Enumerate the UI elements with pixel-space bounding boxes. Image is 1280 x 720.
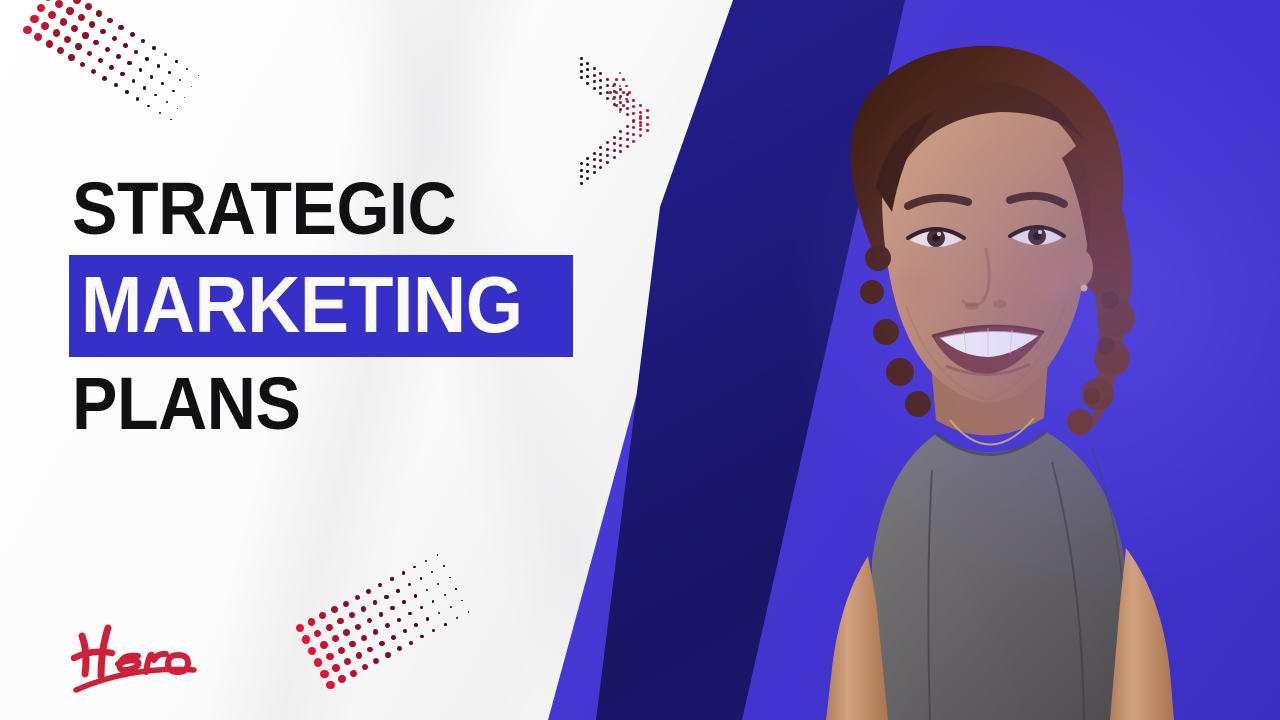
headline-line-3: PLANS xyxy=(72,371,504,438)
headline-line-2: MARKETING xyxy=(81,269,523,341)
hero-logo[interactable] xyxy=(68,622,258,698)
hero-wordmark-icon xyxy=(68,622,258,698)
headline-line-1: STRATEGIC xyxy=(72,176,504,243)
presentation-slide: STRATEGIC MARKETING PLANS xyxy=(0,0,1280,720)
headline-block: STRATEGIC MARKETING PLANS xyxy=(72,176,542,437)
headline-highlight-band: MARKETING xyxy=(69,255,573,357)
